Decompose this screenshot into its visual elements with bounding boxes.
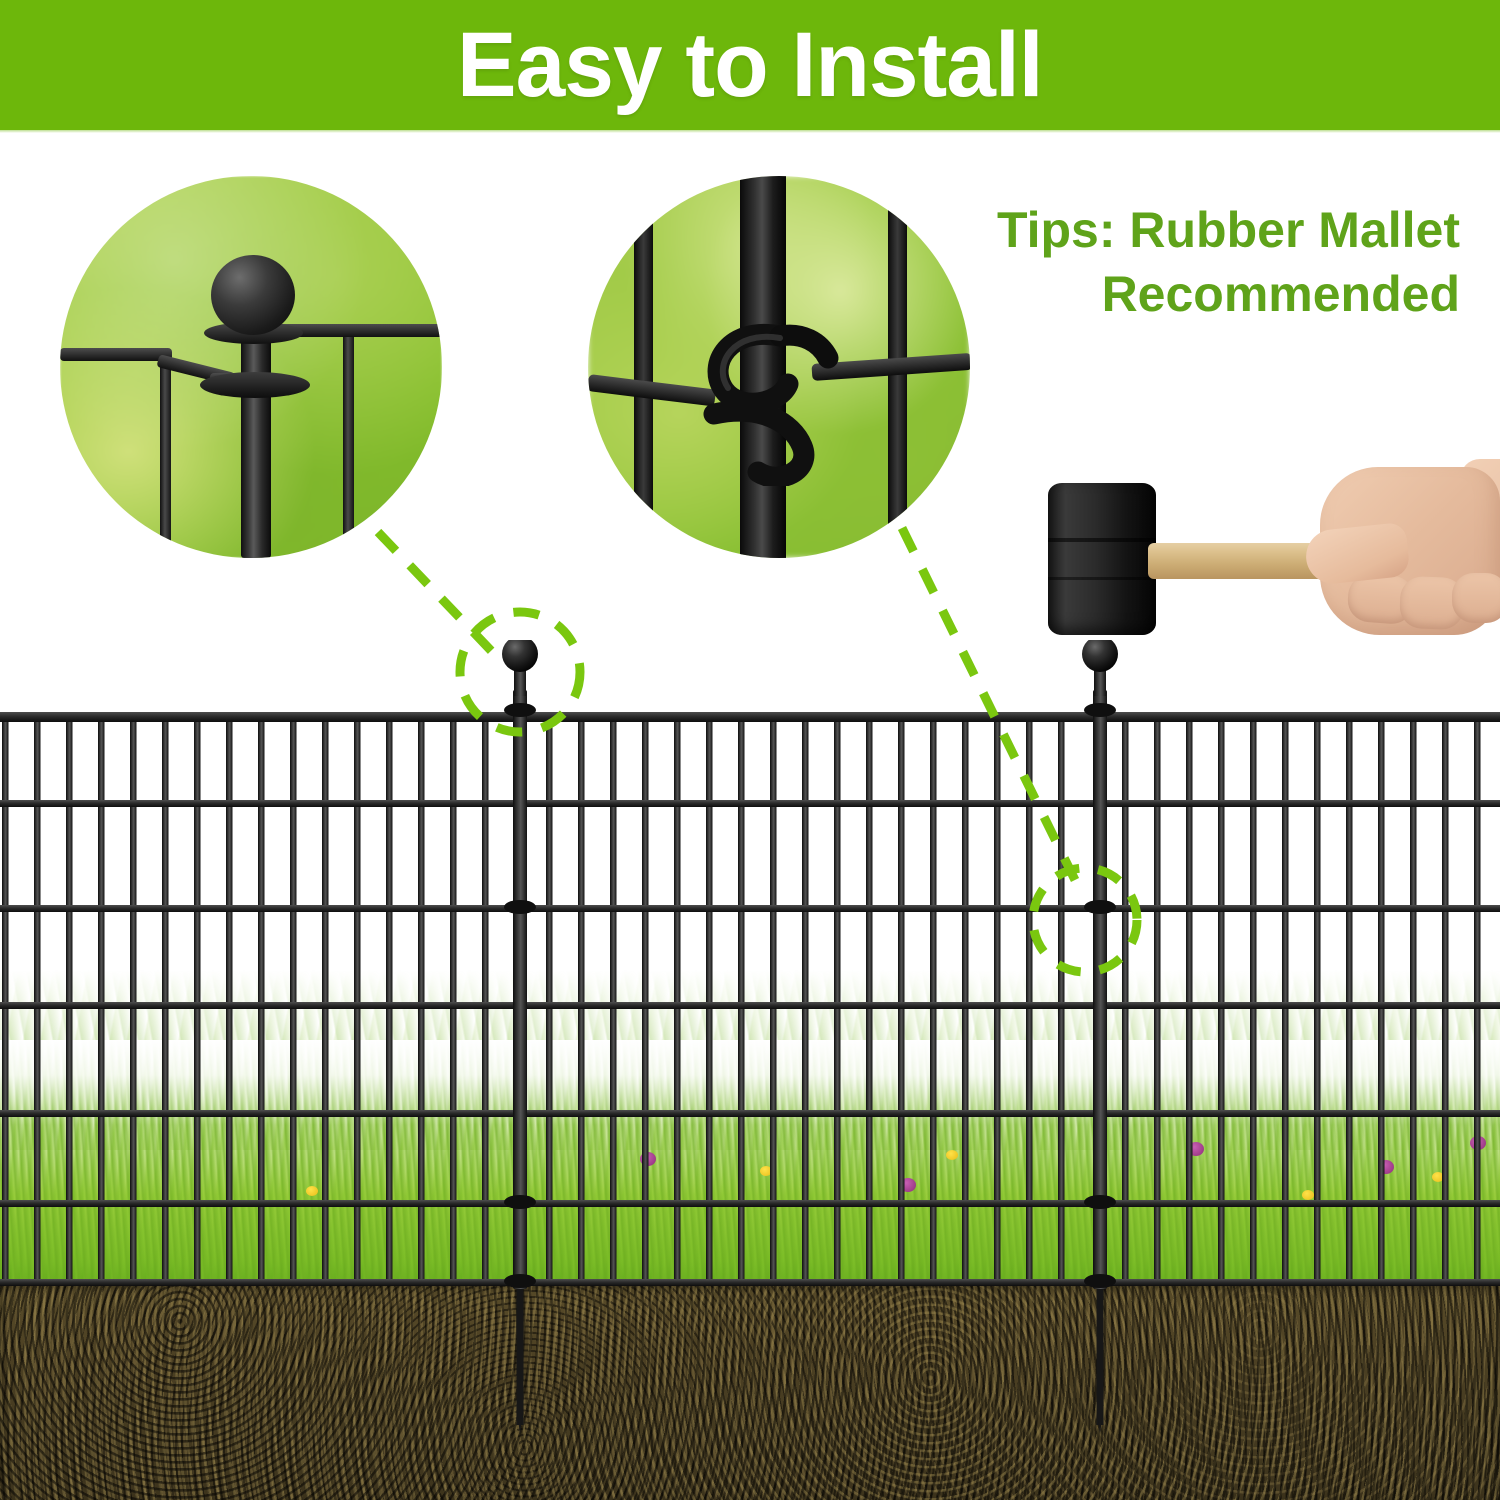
fence-vertical-bar: [194, 712, 201, 1285]
fence-vertical-bar: [1154, 712, 1161, 1285]
post-collar: [504, 1274, 536, 1288]
post-collar: [504, 1195, 536, 1209]
fence-vertical-bar: [482, 712, 489, 1285]
fence-vertical-bars: [2, 712, 1481, 1285]
fence-vertical-bar: [130, 712, 137, 1285]
fence-vertical-bar: [674, 712, 681, 1285]
fence-vertical-bar: [706, 712, 713, 1285]
fence-post-right: [1082, 640, 1118, 1435]
fence-vertical-bar: [994, 712, 1001, 1285]
fence-vertical-bar: [1346, 712, 1353, 1285]
fence-vertical-bar: [898, 712, 905, 1285]
fence-vertical-bar: [962, 712, 969, 1285]
fence-vertical-bar: [1282, 712, 1289, 1285]
post-collar: [1084, 900, 1116, 914]
post-collar: [1084, 703, 1116, 717]
fence-vertical-bar: [290, 712, 297, 1285]
fence-vertical-bar: [418, 712, 425, 1285]
fence-horizontal-rails: [0, 712, 1500, 1286]
ball-finial-icon: [1082, 640, 1118, 672]
post-collar: [1084, 1195, 1116, 1209]
fence-vertical-bar: [160, 352, 171, 558]
fence-horizontal-rail: [0, 800, 1500, 807]
fence-vertical-bar: [2, 712, 9, 1285]
post-collar: [1084, 1274, 1116, 1288]
fence-vertical-bar: [738, 712, 745, 1285]
fence-vertical-bar: [770, 712, 777, 1285]
rubber-mallet-with-hand: [1048, 455, 1500, 665]
fence-vertical-bar: [1122, 712, 1129, 1285]
header-banner: Easy to Install: [0, 0, 1500, 130]
ball-finial-icon: [211, 255, 295, 335]
detail-circle-ball-finial: [60, 176, 442, 558]
hand-finger: [1452, 573, 1500, 623]
fence-horizontal-rail: [0, 1200, 1500, 1207]
fence-vertical-bar: [162, 712, 169, 1285]
fence-vertical-bar: [450, 712, 457, 1285]
fence-vertical-bar: [866, 712, 873, 1285]
detail-circle-s-hook: [588, 176, 970, 558]
post-collar: [504, 900, 536, 914]
fence-vertical-bar: [226, 712, 233, 1285]
fence-vertical-bar: [98, 712, 105, 1285]
fence-vertical-bar: [930, 712, 937, 1285]
fence-vertical-bar: [322, 712, 329, 1285]
fence-vertical-bar: [1410, 712, 1417, 1285]
fence-vertical-bar: [834, 712, 841, 1285]
page-title: Easy to Install: [457, 19, 1043, 111]
fence-vertical-bar: [634, 176, 653, 558]
fence-vertical-bar: [258, 712, 265, 1285]
fence-vertical-bar: [1058, 712, 1065, 1285]
fence-vertical-bar: [642, 712, 649, 1285]
fence-vertical-bar: [1442, 712, 1449, 1285]
product-infographic: Easy to Install Tips: Rubber Mallet Reco…: [0, 0, 1500, 1500]
ball-finial-icon: [502, 640, 538, 672]
post-collar-lower: [200, 372, 310, 398]
fence-horizontal-rail: [60, 348, 172, 361]
fence-vertical-bar: [1474, 712, 1481, 1285]
fence-vertical-bar: [610, 712, 617, 1285]
post-collar: [504, 703, 536, 717]
fence-vertical-bar: [1186, 712, 1193, 1285]
fence-horizontal-rail: [0, 905, 1500, 912]
fence-vertical-bar: [1218, 712, 1225, 1285]
header-underline-divider: [0, 130, 1500, 133]
fence-bottom-rail: [0, 1279, 1500, 1286]
ground-stake: [1097, 1285, 1104, 1425]
fence-vertical-bar: [1250, 712, 1257, 1285]
s-hook-connector-icon: [684, 306, 894, 486]
fence-vertical-bar: [66, 712, 73, 1285]
fence-horizontal-rail: [0, 1110, 1500, 1117]
fence-vertical-bar: [386, 712, 393, 1285]
fence-vertical-bar: [802, 712, 809, 1285]
mallet-head-icon: [1048, 483, 1156, 635]
fence-vertical-bar: [343, 326, 354, 558]
fence-vertical-bar: [354, 712, 361, 1285]
fence-horizontal-rail: [0, 712, 1500, 722]
fence-posts-with-finials: [502, 640, 1118, 1435]
fence-vertical-bar: [578, 712, 585, 1285]
fence-scene: [0, 640, 1500, 1500]
fence-vertical-bar: [34, 712, 41, 1285]
fence-illustration: [0, 640, 1500, 1500]
fence-post-left: [502, 640, 538, 1435]
fence-vertical-bar: [1378, 712, 1385, 1285]
fence-vertical-bar: [546, 712, 553, 1285]
ground-stake: [517, 1285, 524, 1425]
fence-vertical-bar: [1314, 712, 1321, 1285]
fence-horizontal-rail: [0, 1002, 1500, 1009]
fence-vertical-bar: [1026, 712, 1033, 1285]
